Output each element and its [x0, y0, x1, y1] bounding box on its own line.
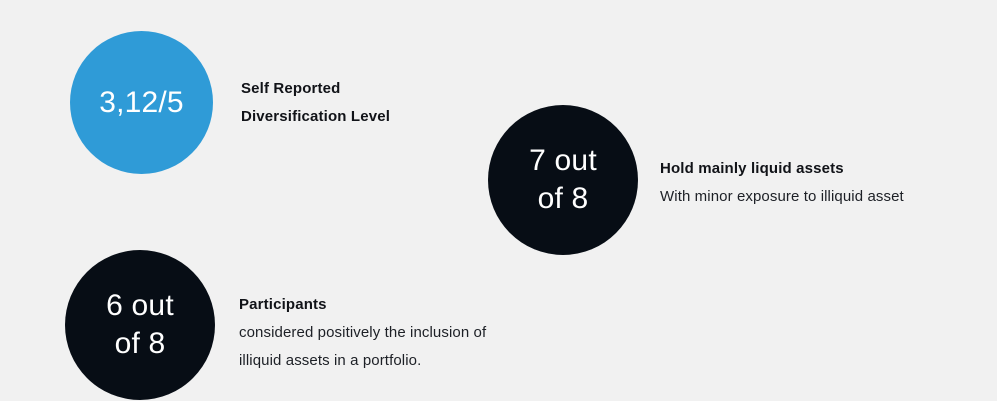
stat-text-participants: Participants considered positively the i…	[239, 291, 486, 375]
stat-circle-participants: 6 out of 8	[65, 250, 215, 400]
stat-body-liquid-assets: With minor exposure to illiquid asset	[660, 183, 904, 211]
stat-body-participants-line-1: considered positively the inclusion of	[239, 319, 486, 347]
stat-heading-liquid-assets: Hold mainly liquid assets	[660, 155, 904, 183]
stat-heading-participants: Participants	[239, 291, 486, 319]
stat-text-diversification: Self Reported Diversification Level	[241, 75, 390, 131]
infographic-canvas: 3,12/5 Self Reported Diversification Lev…	[0, 0, 997, 401]
stat-circle-diversification: 3,12/5	[70, 31, 213, 174]
stat-heading-line-2: Diversification Level	[241, 103, 390, 131]
stat-circle-liquid-assets: 7 out of 8	[488, 105, 638, 255]
stat-heading-line-1: Self Reported	[241, 75, 390, 103]
stat-body-participants-line-2: illiquid assets in a portfolio.	[239, 347, 486, 375]
stat-text-liquid-assets: Hold mainly liquid assets With minor exp…	[660, 155, 904, 211]
